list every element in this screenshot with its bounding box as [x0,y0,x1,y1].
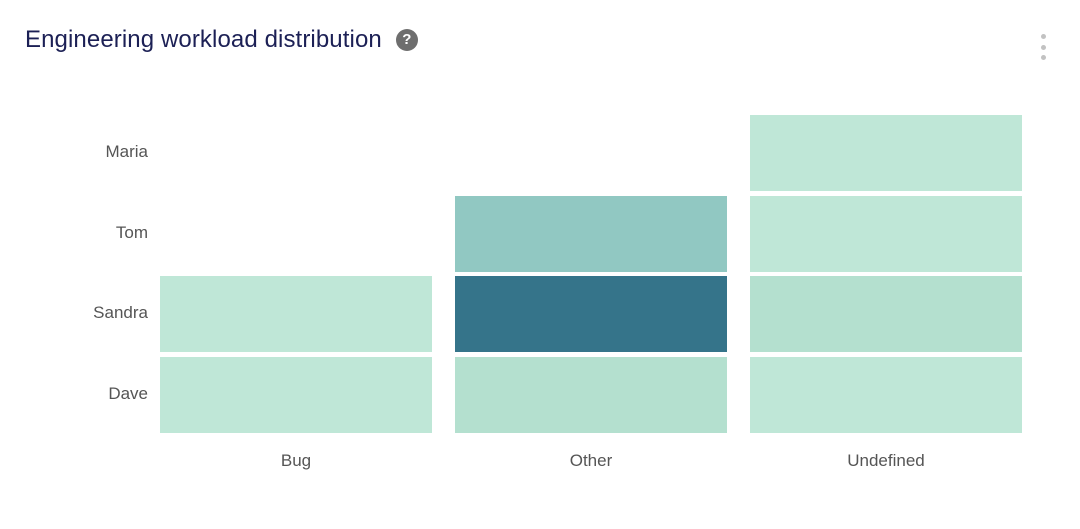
heatmap-cell[interactable] [160,276,432,352]
heatmap-cell[interactable] [455,276,727,352]
heatmap-cell[interactable] [750,357,1022,433]
heatmap-cell[interactable] [160,357,432,433]
chart-card: Engineering workload distribution ? Mari… [0,0,1080,529]
heatmap-cell[interactable] [750,276,1022,352]
y-axis-tick-label: Tom [18,223,148,243]
x-axis-tick-undefined: Undefined [750,451,1022,471]
x-axis-tick-bug: Bug [160,451,432,471]
heatmap-cell[interactable] [750,115,1022,191]
y-axis-tick-label: Maria [18,142,148,162]
heatmap-cell[interactable] [455,357,727,433]
heatmap-plot: MariaTomSandraDaveBugOtherUndefined [0,0,1080,529]
heatmap-cell[interactable] [750,196,1022,272]
y-axis-tick-label: Dave [18,384,148,404]
y-axis-tick-label: Sandra [18,303,148,323]
heatmap-cell[interactable] [455,196,727,272]
x-axis-tick-other: Other [455,451,727,471]
